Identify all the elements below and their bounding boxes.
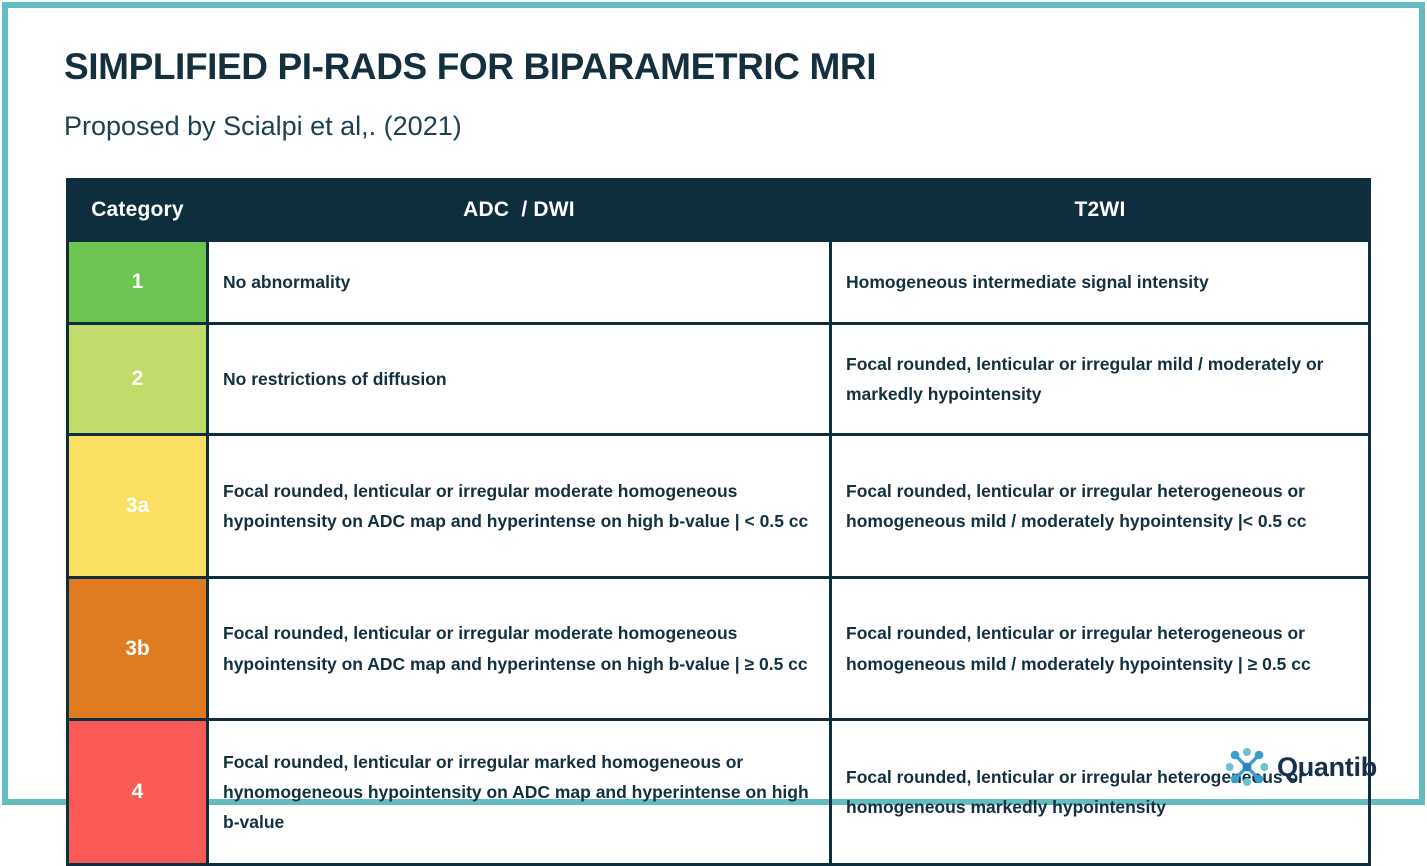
table-body: 1 No abnormality Homogeneous intermediat… — [68, 241, 1370, 865]
quantib-logo: Quantib — [1226, 744, 1386, 790]
table-row: 3a Focal rounded, lenticular or irregula… — [68, 435, 1370, 578]
cell-adc-dwi-3a: Focal rounded, lenticular or irregular m… — [208, 435, 831, 578]
page-subtitle: Proposed by Scialpi et al,. (2021) — [64, 111, 462, 142]
column-header-t2wi: T2WI — [831, 180, 1370, 241]
cell-adc-dwi-2: No restrictions of diffusion — [208, 324, 831, 435]
column-header-category: Category — [68, 180, 208, 241]
table-row: 1 No abnormality Homogeneous intermediat… — [68, 241, 1370, 324]
table-row: 3b Focal rounded, lenticular or irregula… — [68, 578, 1370, 720]
category-swatch-3a: 3a — [68, 435, 208, 578]
column-header-adc-dwi: ADC / DWI — [208, 180, 831, 241]
table-header: Category ADC / DWI T2WI — [68, 180, 1370, 241]
cell-t2wi-4: Focal rounded, lenticular or irregular h… — [831, 720, 1370, 865]
table-row: 4 Focal rounded, lenticular or irregular… — [68, 720, 1370, 865]
page-title: SIMPLIFIED PI-RADS FOR BIPARAMETRIC MRI — [64, 46, 876, 88]
cell-t2wi-1: Homogeneous intermediate signal intensit… — [831, 241, 1370, 324]
cell-adc-dwi-3b: Focal rounded, lenticular or irregular m… — [208, 578, 831, 720]
poster-content: SIMPLIFIED PI-RADS FOR BIPARAMETRIC MRI … — [0, 0, 1427, 807]
table-row: 2 No restrictions of diffusion Focal rou… — [68, 324, 1370, 435]
cell-adc-dwi-4: Focal rounded, lenticular or irregular m… — [208, 720, 831, 865]
cell-t2wi-3b: Focal rounded, lenticular or irregular h… — [831, 578, 1370, 720]
category-swatch-3b: 3b — [68, 578, 208, 720]
category-swatch-4: 4 — [68, 720, 208, 865]
category-swatch-2: 2 — [68, 324, 208, 435]
cell-t2wi-3a: Focal rounded, lenticular or irregular h… — [831, 435, 1370, 578]
cell-adc-dwi-1: No abnormality — [208, 241, 831, 324]
poster-page: SIMPLIFIED PI-RADS FOR BIPARAMETRIC MRI … — [0, 0, 1427, 807]
quantib-mark-icon — [1226, 747, 1268, 787]
quantib-wordmark: Quantib — [1277, 754, 1377, 781]
table-header-row: Category ADC / DWI T2WI — [68, 180, 1370, 241]
pirads-table: Category ADC / DWI T2WI 1 No abnormality… — [66, 178, 1371, 866]
category-swatch-1: 1 — [68, 241, 208, 324]
cell-t2wi-2: Focal rounded, lenticular or irregular m… — [831, 324, 1370, 435]
